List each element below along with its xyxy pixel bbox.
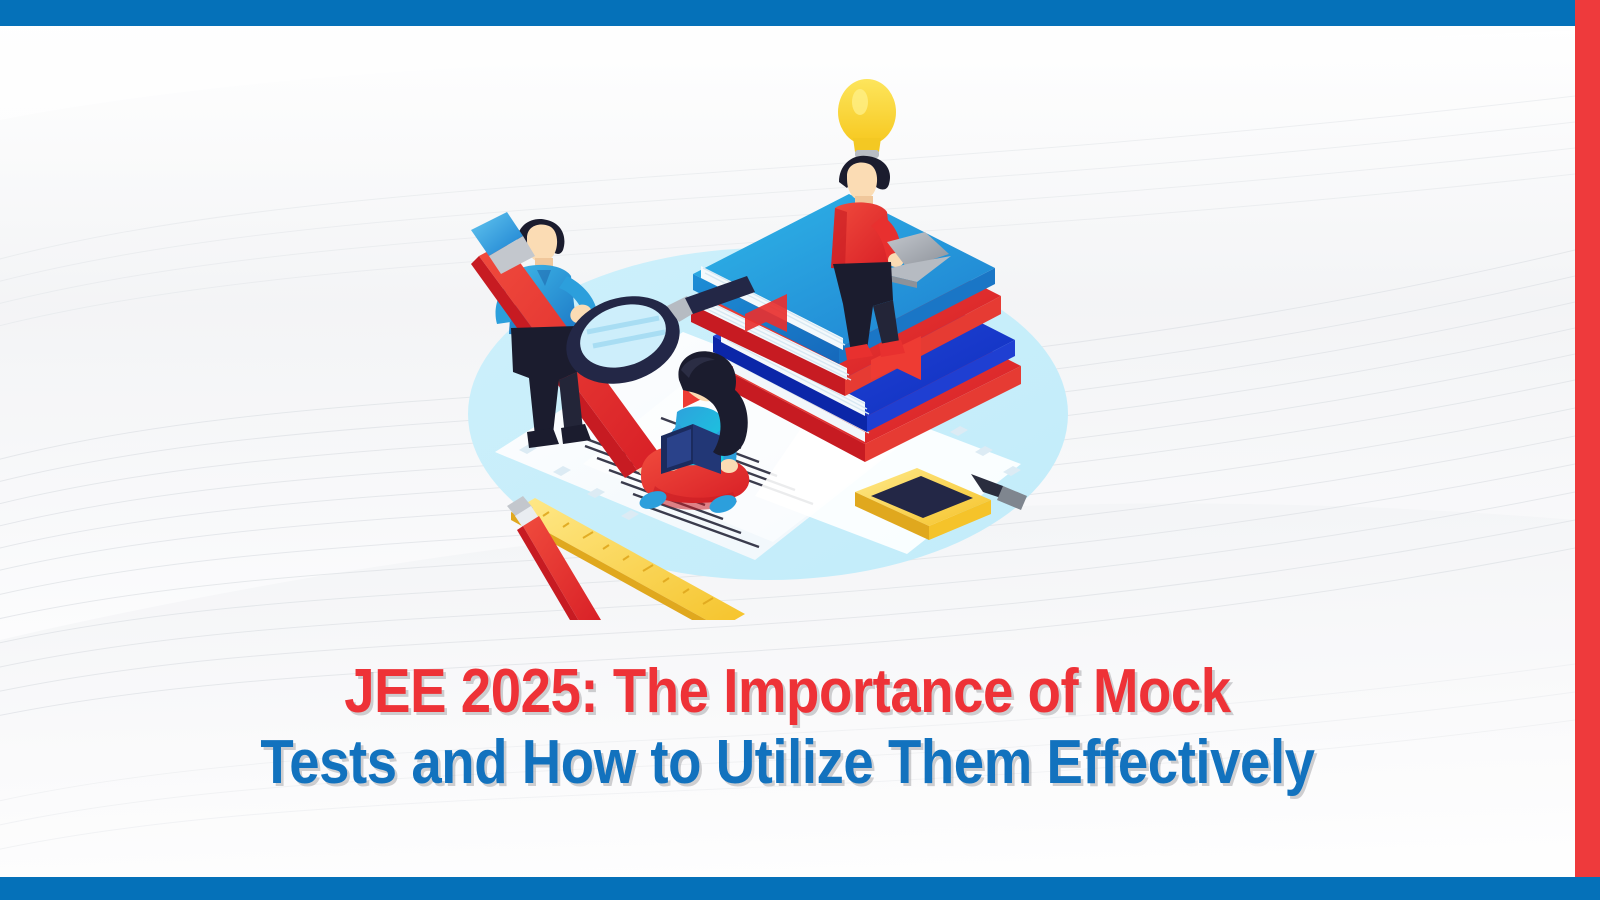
- headline-line-1: JEE 2025: The Importance of Mock: [95, 662, 1481, 723]
- top-blue-bar: [0, 0, 1575, 26]
- illustration-students-studying: [455, 60, 1135, 620]
- bottom-blue-bar: [0, 877, 1600, 900]
- headline: JEE 2025: The Importance of Mock Tests a…: [0, 662, 1575, 794]
- banner-root: JEE 2025: The Importance of Mock Tests a…: [0, 0, 1600, 900]
- face: [847, 163, 877, 201]
- right-red-bar: [1575, 0, 1600, 877]
- light-bulb-icon: [838, 79, 896, 158]
- headline-line-2: Tests and How to Utilize Them Effectivel…: [95, 733, 1481, 794]
